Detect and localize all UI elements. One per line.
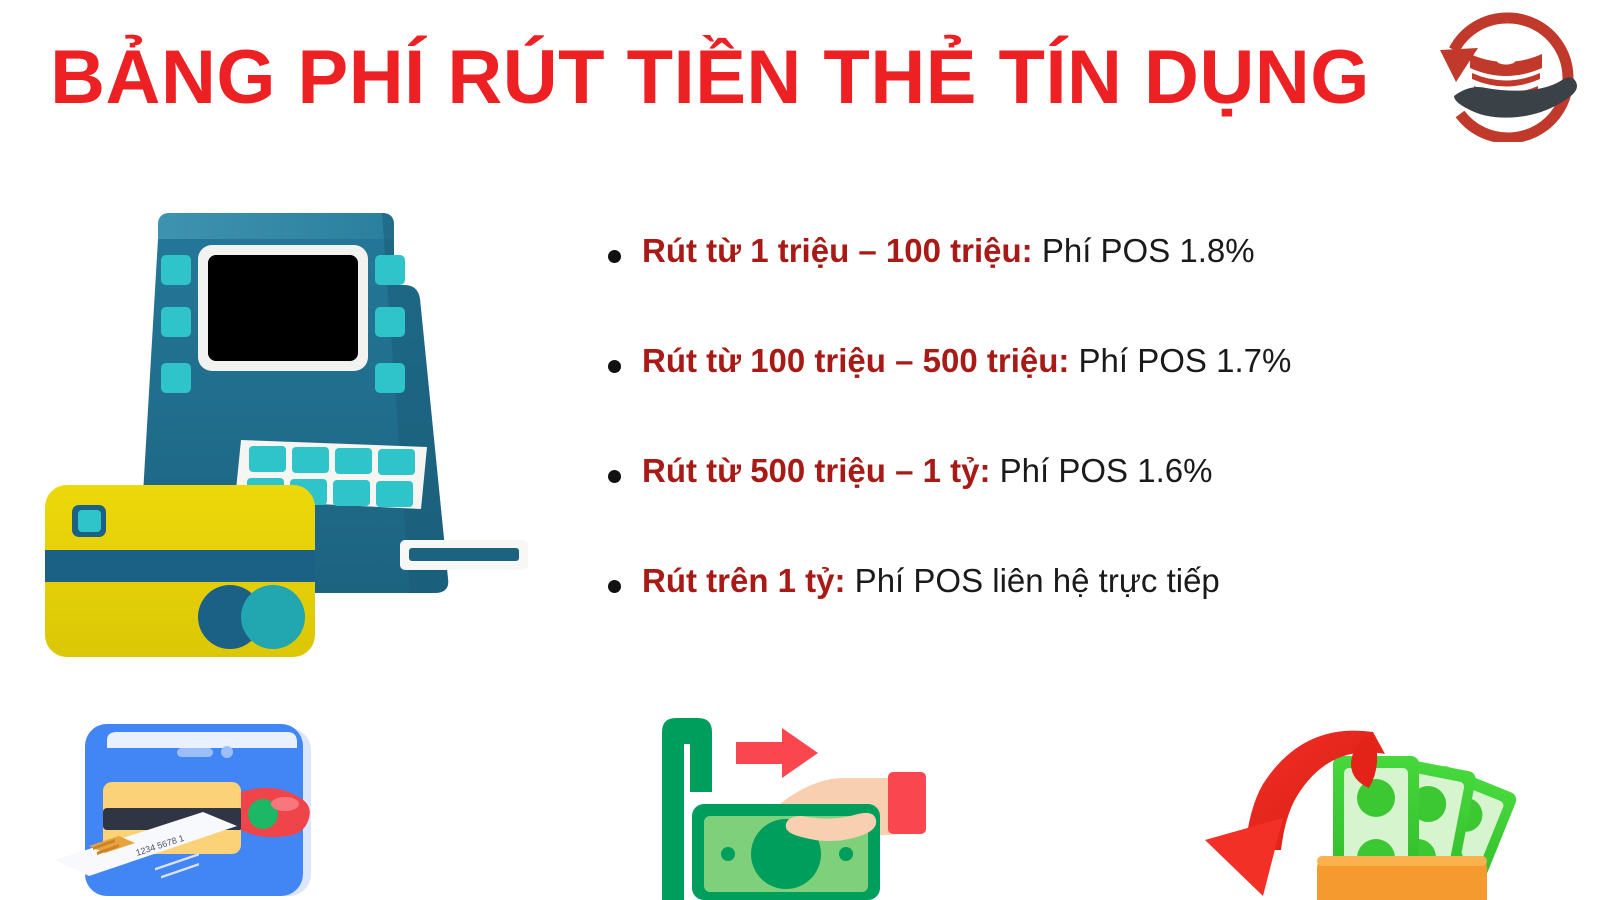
atm-side-buttons-left xyxy=(161,255,191,393)
fee-label-3: Rút từ 500 triệu – 1 tỷ: xyxy=(642,452,990,489)
page-title: BẢNG PHÍ RÚT TIỀN THẺ TÍN DỤNG xyxy=(0,36,1420,120)
fee-value-2: Phí POS 1.7% xyxy=(1069,342,1291,379)
cashback-icon xyxy=(1205,700,1540,900)
list-item: Rút trên 1 tỷ: Phí POS liên hệ trực tiếp xyxy=(600,558,1560,668)
fee-list: Rút từ 1 triệu – 100 triệu: Phí POS 1.8%… xyxy=(600,228,1560,668)
wallet-front xyxy=(1317,856,1487,900)
cash-withdrawal-icon xyxy=(640,700,930,900)
bullet-icon xyxy=(608,250,621,263)
list-item: Rút từ 500 triệu – 1 tỷ: Phí POS 1.6% xyxy=(600,448,1560,558)
brand-logo xyxy=(1432,10,1582,142)
list-item: Rút từ 1 triệu – 100 triệu: Phí POS 1.8% xyxy=(600,228,1560,338)
atm-cash-slot xyxy=(400,540,528,570)
bullet-icon xyxy=(608,470,621,483)
atm-side-buttons-right xyxy=(375,255,405,393)
fee-value-3: Phí POS 1.6% xyxy=(990,452,1212,489)
atm-illustration xyxy=(30,195,530,665)
fee-label-1: Rút từ 1 triệu – 100 triệu: xyxy=(642,232,1033,269)
fee-row-4: Rút trên 1 tỷ: Phí POS liên hệ trực tiếp xyxy=(642,558,1220,604)
fee-label-4: Rút trên 1 tỷ: xyxy=(642,562,846,599)
credit-card xyxy=(45,485,315,657)
arrow-right-icon xyxy=(736,728,818,778)
fee-value-1: Phí POS 1.8% xyxy=(1033,232,1255,269)
bullet-icon xyxy=(608,360,621,373)
fee-value-4: Phí POS liên hệ trực tiếp xyxy=(846,562,1220,599)
fee-label-2: Rút từ 100 triệu – 500 triệu: xyxy=(642,342,1069,379)
fee-row-2: Rút từ 100 triệu – 500 triệu: Phí POS 1.… xyxy=(642,338,1291,384)
fee-row-3: Rút từ 500 triệu – 1 tỷ: Phí POS 1.6% xyxy=(642,448,1212,494)
fee-row-1: Rút từ 1 triệu – 100 triệu: Phí POS 1.8% xyxy=(642,228,1255,274)
wallet-card-icon: 1234 5678 1 xyxy=(45,700,335,900)
list-item: Rút từ 100 triệu – 500 triệu: Phí POS 1.… xyxy=(600,338,1560,448)
atm-screen xyxy=(198,245,368,371)
infographic-canvas: BẢNG PHÍ RÚT TIỀN THẺ TÍN DỤNG Rút từ 1 … xyxy=(0,0,1600,900)
bullet-icon xyxy=(608,580,621,593)
